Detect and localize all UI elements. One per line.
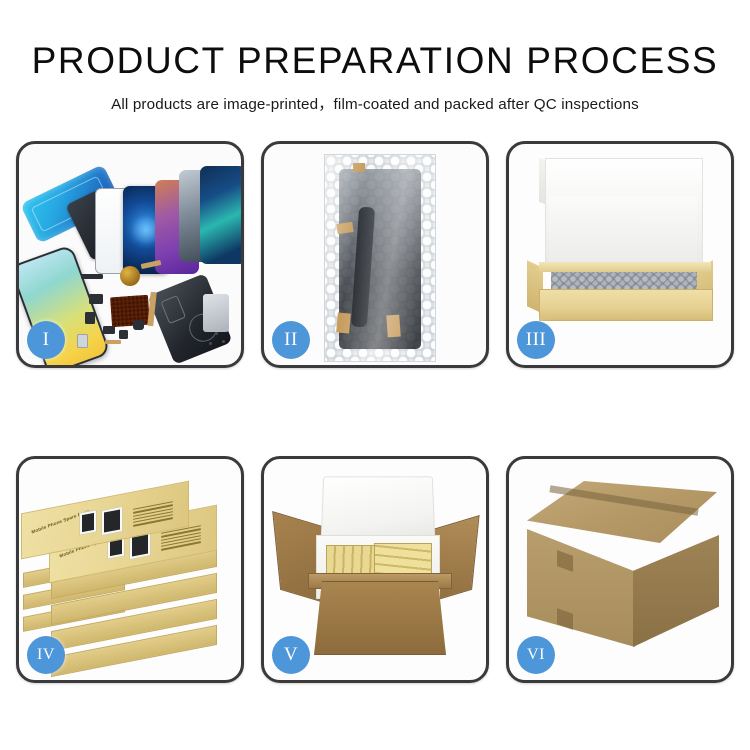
screw-3 — [209, 342, 212, 345]
screw-2 — [222, 340, 225, 343]
process-step-panel-6: VI — [506, 456, 734, 683]
camera-module-part — [89, 294, 103, 304]
speaker-part — [85, 312, 95, 324]
box-label-thumb-1a — [79, 509, 97, 535]
process-step-grid: I II — [16, 141, 734, 683]
logic-board-part — [110, 295, 150, 328]
taptic-engine-part — [103, 326, 115, 334]
box-label-thumb-1b — [101, 506, 123, 536]
sealed-carton-right-face — [633, 535, 719, 647]
stacked-box-r6 — [51, 641, 215, 659]
box-front-yellow — [539, 289, 713, 321]
repair-tool-part — [203, 294, 229, 332]
header: PRODUCT PREPARATION PROCESS All products… — [0, 0, 750, 114]
screw-1 — [215, 332, 218, 335]
bubble-wrap-bag — [324, 154, 436, 362]
step-badge-3: III — [517, 321, 555, 359]
product-preparation-infographic: PRODUCT PREPARATION PROCESS All products… — [0, 0, 750, 750]
process-step-panel-1: I — [16, 141, 244, 368]
foam-insert-white — [549, 196, 697, 264]
earpiece-part — [133, 320, 144, 330]
page-subtitle: All products are image-printed，film-coat… — [0, 92, 750, 114]
phone-teal-screen — [200, 166, 241, 264]
sealed-carton-left-face — [527, 529, 635, 647]
page-title: PRODUCT PREPARATION PROCESS — [0, 42, 750, 81]
foam-cooler-lid — [321, 476, 436, 539]
stacked-box-labeled-1: Mobile Phone Spare Parts — [21, 497, 187, 541]
box-rim-edge — [539, 262, 711, 272]
flex-cable-3 — [105, 340, 121, 344]
process-step-panel-2: II — [261, 141, 489, 368]
carton-body — [314, 581, 446, 655]
step-badge-4: IV — [27, 636, 65, 674]
step-badge-6: VI — [517, 636, 555, 674]
step-badge-5: V — [272, 636, 310, 674]
process-step-panel-3: III — [506, 141, 734, 368]
process-step-panel-4: Mobile Phone Spare Parts Mobile Phone Sp… — [16, 456, 244, 683]
step-badge-1: I — [27, 321, 65, 359]
process-step-panel-5: V — [261, 456, 489, 683]
sim-tray-part — [119, 330, 128, 339]
small-screen-part — [77, 334, 88, 348]
vibration-motor-part — [120, 266, 140, 286]
step-badge-2: II — [272, 321, 310, 359]
battery-connector-part — [81, 274, 103, 279]
bag-gloss-highlight — [325, 155, 435, 361]
